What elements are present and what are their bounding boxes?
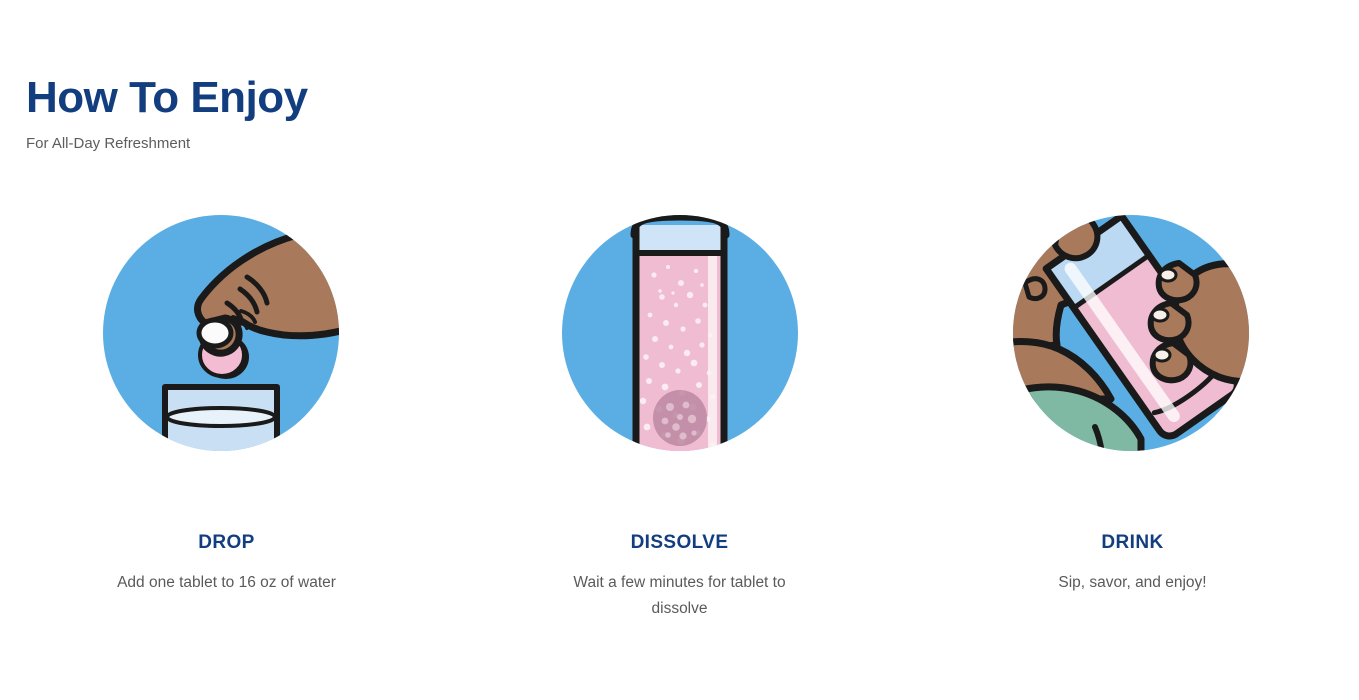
- fizzing-glass-icon: [550, 205, 810, 470]
- steps-row: DROP Add one tablet to 16 oz of water: [0, 205, 1359, 622]
- page-title: How To Enjoy: [26, 72, 626, 124]
- section-header: How To Enjoy For All-Day Refreshment: [26, 72, 626, 154]
- step-title-dissolve: DISSOLVE: [631, 532, 729, 554]
- step-card-drop: DROP Add one tablet to 16 oz of water: [0, 205, 453, 596]
- step-card-dissolve: DISSOLVE Wait a few minutes for tablet t…: [453, 205, 906, 622]
- step-description-drink: Sip, savor, and enjoy!: [1058, 570, 1206, 596]
- step-title-drink: DRINK: [1101, 532, 1163, 554]
- step-title-drop: DROP: [198, 532, 255, 554]
- step-description-dissolve: Wait a few minutes for tablet to dissolv…: [550, 570, 810, 622]
- page-subtitle: For All-Day Refreshment: [26, 134, 626, 154]
- how-to-enjoy-section: How To Enjoy For All-Day Refreshment: [0, 0, 1359, 700]
- step-card-drink: DRINK Sip, savor, and enjoy!: [906, 205, 1359, 596]
- person-drinking-icon: [1003, 205, 1263, 470]
- step-description-drop: Add one tablet to 16 oz of water: [117, 570, 336, 596]
- hand-dropping-tablet-icon: [97, 205, 357, 470]
